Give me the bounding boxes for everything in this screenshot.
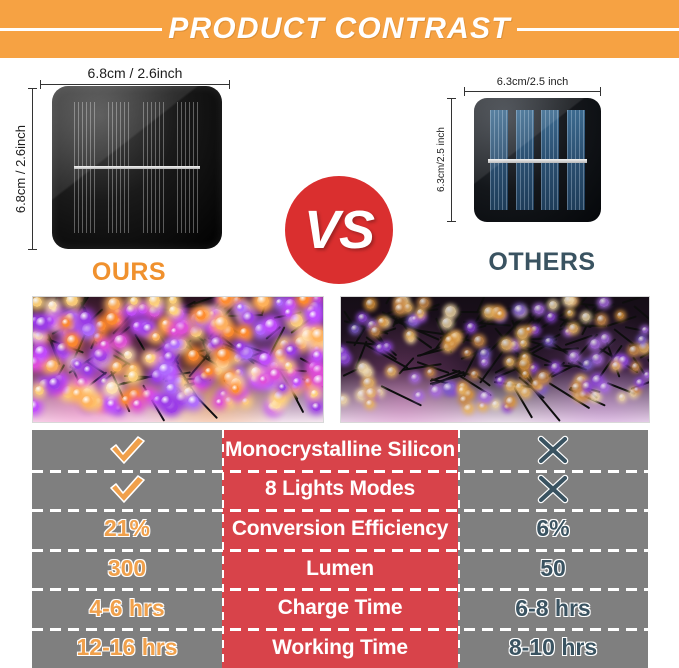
ours-value-cell [32,430,222,470]
led-bulb [383,343,391,351]
header-rule-left [0,28,162,31]
others-width-line [464,91,601,92]
led-bulb [299,296,309,304]
led-wire [134,333,145,350]
led-bulb [567,310,573,316]
feature-label: Conversion Efficiency [232,517,448,541]
led-bulb [516,383,523,390]
feature-label: Monocrystalline Silicon [225,438,455,462]
led-bulb [257,296,269,307]
comparison-table: Monocrystalline Silicon8 Lights Modes21%… [32,430,648,668]
led-bulb [363,378,373,388]
led-bulb [106,313,118,325]
led-bulb [293,378,301,386]
led-wire [343,368,358,377]
led-bulb [114,335,126,347]
led-bulb [582,382,592,392]
led-bulb [358,363,368,373]
led-bulb [62,386,74,398]
ours-value-cell: 300 [32,549,222,589]
led-bulb [464,350,471,357]
led-bulb [445,306,456,317]
led-bulb [170,339,180,349]
led-bulb [159,364,171,376]
others-value-cell: 6% [458,509,648,549]
led-bulb [634,387,640,393]
led-bulb [506,358,514,366]
led-bulb [443,383,454,394]
led-bulb [143,324,154,335]
others-height-label: 6.3cm/2.5 inch [436,127,447,192]
led-bulb [133,322,141,330]
led-bulb [161,396,172,407]
others-value-cell: 6-8 hrs [458,588,648,628]
ours-height-dimension: 6.8cm / 2.6inch [14,88,33,250]
led-bulb [534,305,544,315]
led-bulb [232,385,240,393]
others-value: 50 [540,555,566,582]
cross-icon [533,434,573,466]
check-icon [107,434,147,466]
led-bulb [564,296,573,305]
ours-led-cluster [33,297,323,422]
led-bulb [142,390,153,401]
led-bulb [184,388,193,397]
ours-width-dimension: 6.8cm / 2.6inch [40,66,230,85]
led-bulb [590,392,600,402]
led-bulb [112,362,122,372]
led-bulb [311,390,318,397]
led-bulb [285,362,293,370]
led-bulb [404,304,412,312]
led-bulb [612,362,620,370]
others-value-cell [458,430,648,470]
led-bulb [549,301,557,309]
led-bulb [237,304,244,311]
ours-value-cell: 12-16 hrs [32,628,222,668]
others-value-cell: 8-10 hrs [458,628,648,668]
table-row: 4-6 hrsCharge Time6-8 hrs [32,588,648,628]
led-bulb [285,299,296,310]
led-bulb [480,349,490,359]
ours-value: 4-6 hrs [89,595,164,622]
led-bulb [130,297,139,306]
feature-label-cell: Monocrystalline Silicon [222,430,458,470]
vs-label: VS [304,199,374,261]
cross-icon [533,473,573,505]
led-bulb [122,396,130,404]
led-bulb [145,354,154,363]
led-bulb [411,374,419,382]
led-wire [633,306,650,339]
led-bulb [276,299,283,306]
others-led-photo [340,296,650,423]
led-bulb [217,349,229,361]
led-bulb [395,304,405,314]
led-bulb [243,312,254,323]
led-bulb [619,356,629,366]
led-bulb [251,367,261,377]
led-bulb [166,384,176,394]
led-bulb [66,296,77,306]
led-bulb [46,360,58,372]
led-bulb [313,351,322,360]
panel-comparison-section: 6.8cm / 2.6inch 6.8cm / 2.6inch OURS VS … [0,58,679,291]
led-bulb [128,371,138,381]
others-value-cell [458,470,648,510]
table-row: 12-16 hrsWorking Time8-10 hrs [32,628,648,668]
led-bulb [36,317,48,329]
led-bulb [188,396,199,407]
led-bulb [216,399,224,407]
led-bulb [152,333,160,341]
others-height-line [451,98,452,222]
led-bulb [35,332,43,340]
led-bulb [572,383,582,393]
led-bulb [366,400,374,408]
header-rule-right [517,28,679,31]
led-bulb [312,329,324,342]
others-caption: OTHERS [432,248,652,277]
led-bulb [96,321,105,330]
others-value-cell: 50 [458,549,648,589]
led-bulb [32,401,39,412]
led-bulb [235,369,242,376]
led-bulb [632,363,640,371]
ours-value-cell: 4-6 hrs [32,588,222,628]
led-bulb [484,307,494,317]
led-bulb [479,403,487,411]
others-value: 8-10 hrs [509,634,597,661]
others-width-label: 6.3cm/2.5 inch [497,76,569,88]
led-bulb [497,377,505,385]
led-bulb [265,319,278,332]
others-value: 6-8 hrs [515,595,590,622]
led-bulb [240,328,249,337]
feature-label-cell: Charge Time [222,588,458,628]
ours-value: 300 [108,555,146,582]
others-value: 6% [536,515,569,542]
led-bulb [32,297,42,307]
led-bulb [636,379,644,387]
led-wire [647,358,650,401]
led-bulb [514,305,524,315]
led-bulb [107,400,117,410]
led-bulb [205,368,213,376]
others-led-cluster [341,297,649,422]
led-bulb [126,305,137,316]
ours-width-label: 6.8cm / 2.6inch [88,66,183,81]
ours-busbar [74,166,200,169]
table-row: 300Lumen50 [32,549,648,589]
led-bulb [526,327,532,333]
led-bulb [376,344,384,352]
led-bulb [274,391,286,403]
ours-height-line [32,88,33,250]
led-bulb [619,394,625,400]
check-icon [107,473,147,505]
led-bulb [376,389,383,396]
led-bulb [149,296,159,306]
table-row: Monocrystalline Silicon [32,430,648,470]
led-bulb [286,346,295,355]
led-bulb [233,297,241,305]
led-bulb [49,378,60,389]
led-bulb [519,359,529,369]
led-bulb [464,404,474,414]
led-bulb [545,338,553,346]
led-bulb [427,369,434,376]
ours-value-cell [32,470,222,510]
led-bulb [583,360,592,369]
header-banner: PRODUCT CONTRAST [0,0,679,58]
ours-led-photo [32,296,324,423]
led-bulb [312,403,321,412]
led-bulb [378,318,386,326]
led-bulb [459,387,465,393]
led-bulb [138,304,148,314]
led-bulb [644,372,650,378]
feature-label-cell: Conversion Efficiency [222,509,458,549]
led-bulb [188,350,200,362]
led-bulb [431,386,441,396]
others-solar-panel-image [474,98,601,222]
led-bulb [481,359,488,366]
ours-solar-panel-image [52,86,222,249]
led-wire [621,296,650,304]
led-bulb [600,383,609,392]
led-bulb [406,331,414,339]
ours-value: 21% [104,515,150,542]
led-bulb [599,298,609,308]
led-bulb [270,362,277,369]
led-bulb [48,301,57,310]
led-bulb [169,296,177,304]
led-photo-section [0,291,679,430]
led-bulb [601,334,610,343]
led-bulb [133,400,142,409]
feature-label: Charge Time [278,596,403,620]
led-bulb [190,326,202,338]
led-bulb [467,323,476,332]
table-row: 21%Conversion Efficiency6% [32,509,648,549]
others-busbar [488,159,587,163]
led-bulb [506,397,516,407]
led-bulb [259,353,271,365]
led-bulb [108,298,120,310]
led-bulb [260,376,267,383]
vs-badge: VS [285,176,393,284]
led-bulb [597,315,606,324]
ours-height-label: 6.8cm / 2.6inch [14,125,28,213]
led-bulb [74,361,82,369]
led-bulb [629,346,638,355]
led-bulb [617,312,624,319]
led-bulb [67,335,79,347]
others-height-dimension: 6.3cm/2.5 inch [436,98,452,222]
feature-label: Lumen [306,557,374,581]
led-bulb [35,346,47,358]
led-bulb [94,349,107,362]
feature-label-cell: Lumen [222,549,458,589]
led-bulb [106,382,118,394]
led-bulb [569,324,577,332]
led-bulb [313,375,324,387]
led-bulb [80,312,92,324]
led-bulb [73,389,83,399]
feature-label: Working Time [272,636,408,660]
led-bulb [415,392,423,400]
led-bulb [215,317,228,330]
ours-value-cell: 21% [32,509,222,549]
led-bulb [82,323,95,336]
led-bulb [460,396,468,404]
led-bulb [84,366,93,375]
led-bulb [94,333,102,341]
led-bulb [366,299,376,309]
feature-label: 8 Lights Modes [265,477,415,501]
ours-value: 12-16 hrs [76,634,177,661]
ours-caption: OURS [14,258,244,287]
led-bulb [35,386,44,395]
led-bulb [124,351,131,358]
led-bulb [290,314,303,327]
led-bulb [530,365,537,372]
led-bulb [480,392,490,402]
led-bulb [214,367,222,375]
led-bulb [100,341,109,350]
led-bulb [211,337,223,349]
led-bulb [471,371,477,377]
feature-label-cell: Working Time [222,628,458,668]
led-bulb [242,398,249,405]
led-bulb [492,401,499,408]
feature-label-cell: 8 Lights Modes [222,470,458,510]
led-bulb [387,367,396,376]
table-row: 8 Lights Modes [32,470,648,510]
led-bulb [351,325,359,333]
led-bulb [590,339,600,349]
led-bulb [551,363,560,372]
page-title: PRODUCT CONTRAST [164,12,515,46]
others-width-dimension: 6.3cm/2.5 inch [464,76,601,92]
led-bulb [474,336,483,345]
led-bulb [340,396,347,403]
led-bulb [538,372,548,382]
led-bulb [501,339,511,349]
led-bulb [57,343,69,355]
led-bulb [225,397,233,405]
led-bulb [531,326,539,334]
led-bulb [592,354,601,363]
